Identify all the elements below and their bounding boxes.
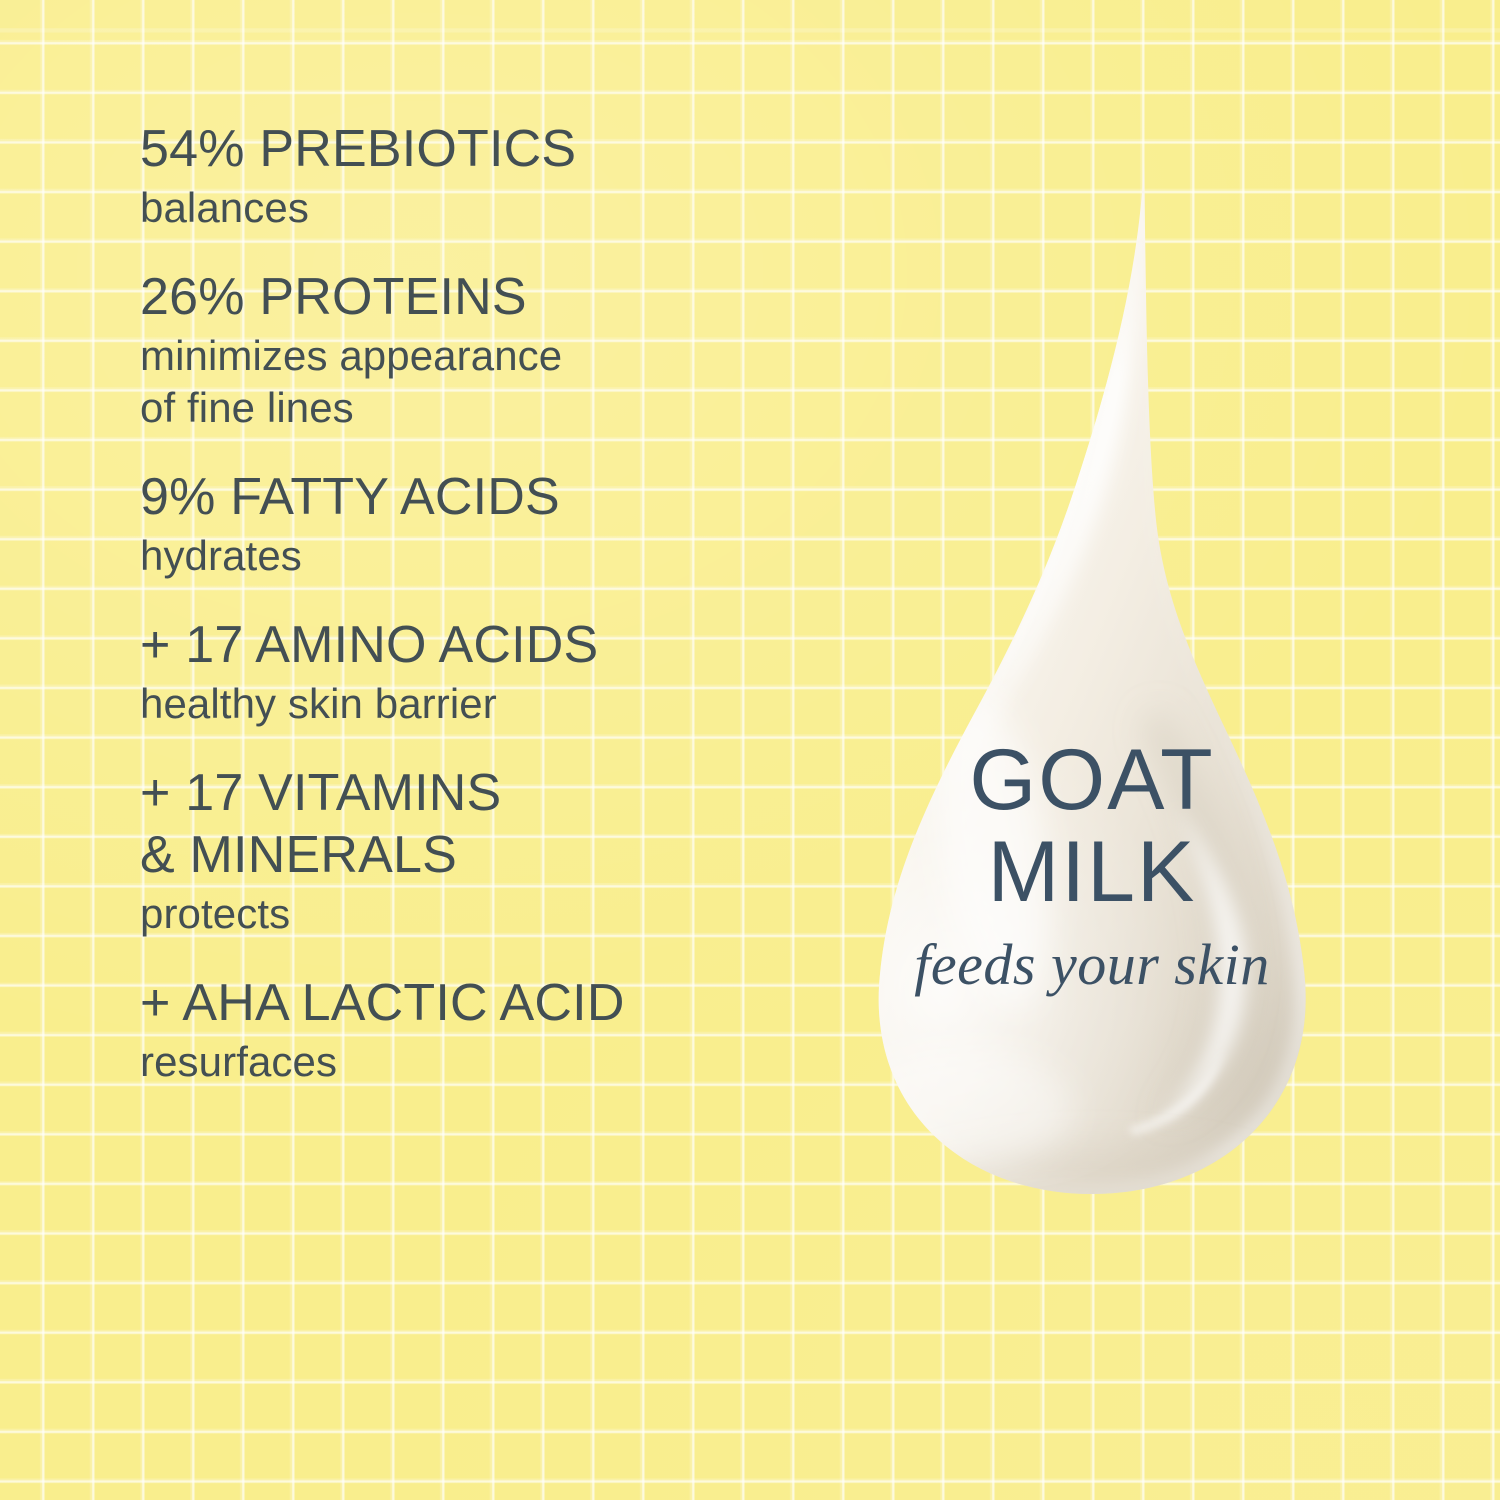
benefits-list: 54% PREBIOTICS balances 26% PROTEINS min… xyxy=(140,118,830,1088)
benefit-item-vitamins-minerals: + 17 VITAMINS & MINERALS protects xyxy=(140,762,830,940)
ingredient-infographic: 54% PREBIOTICS balances 26% PROTEINS min… xyxy=(0,0,1500,1500)
benefit-headline: + 17 AMINO ACIDS xyxy=(140,614,830,676)
benefit-item-amino-acids: + 17 AMINO ACIDS healthy skin barrier xyxy=(140,614,830,730)
benefit-headline: 26% PROTEINS xyxy=(140,266,830,328)
benefit-item-aha-lactic-acid: + AHA LACTIC ACID resurfaces xyxy=(140,972,830,1088)
benefit-headline: + 17 VITAMINS & MINERALS xyxy=(140,762,830,886)
benefit-item-prebiotics: 54% PREBIOTICS balances xyxy=(140,118,830,234)
benefit-subtext: protects xyxy=(140,888,830,940)
benefit-headline: 54% PREBIOTICS xyxy=(140,118,830,180)
benefit-subtext: hydrates xyxy=(140,530,830,582)
milk-droplet-icon xyxy=(842,148,1342,1206)
benefit-item-proteins: 26% PROTEINS minimizes appearance of fin… xyxy=(140,266,830,434)
benefit-headline: + AHA LACTIC ACID xyxy=(140,972,830,1034)
benefit-subtext: balances xyxy=(140,182,830,234)
benefit-headline: 9% FATTY ACIDS xyxy=(140,466,830,528)
benefit-item-fatty-acids: 9% FATTY ACIDS hydrates xyxy=(140,466,830,582)
benefit-subtext: resurfaces xyxy=(140,1036,830,1088)
benefit-subtext: healthy skin barrier xyxy=(140,678,830,730)
benefit-subtext: minimizes appearance of fine lines xyxy=(140,330,830,434)
